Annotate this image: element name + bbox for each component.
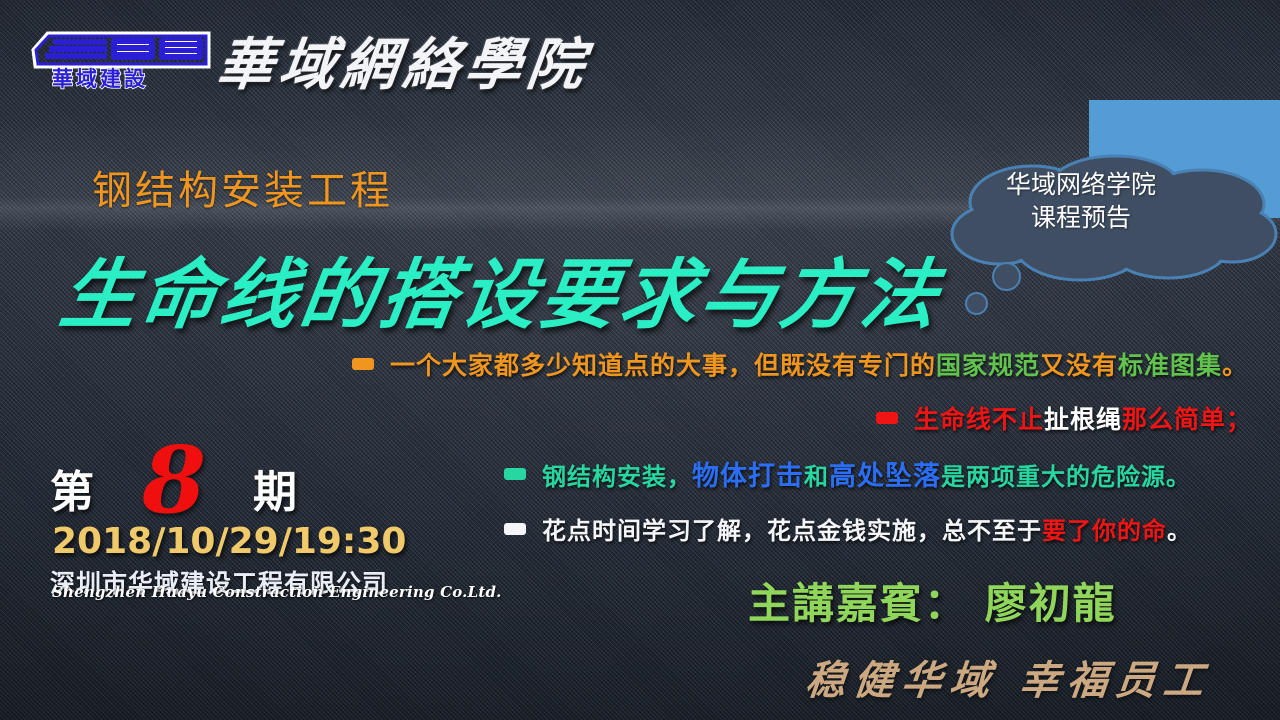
- course-announcement-poster: 華域建設 華域網絡學院: [0, 0, 1280, 720]
- bullet-marker-icon: [504, 523, 526, 535]
- bullet-text-4: 花点时间学习了解，花点金钱实施，总不至于要了你的命。: [542, 511, 1192, 546]
- bullet-item-4: 花点时间学习了解，花点金钱实施，总不至于要了你的命。: [504, 511, 1252, 546]
- issue-number-block: 第 8 期: [50, 452, 380, 524]
- bullet-marker-icon: [504, 468, 526, 480]
- cloud-bubble-large: [992, 262, 1021, 291]
- bullet-text-3: 钢结构安装，物体打击和高处坠落是两项重大的危险源。: [542, 454, 1191, 493]
- bullet-item-2: 生命线不止扯根绳那么简单；: [768, 400, 1252, 436]
- course-subtitle: 钢结构安装工程: [92, 158, 393, 216]
- bullet-marker-icon: [876, 412, 898, 424]
- issue-prefix-label: 第: [50, 456, 94, 520]
- brand-calligraphy-title: 華域網絡學院: [213, 20, 595, 101]
- cloud-bubble-small: [965, 292, 988, 315]
- company-logo-icon: 華域建設: [26, 24, 214, 90]
- event-datetime: 2018/10/29/19:30: [52, 521, 406, 562]
- issue-number: 8: [142, 426, 206, 534]
- bullet-item-3: 钢结构安装，物体打击和高处坠落是两项重大的危险源。: [504, 454, 1252, 493]
- callout-line-1: 华域网络学院: [956, 168, 1206, 201]
- svg-text:華域建設: 華域建設: [52, 67, 148, 90]
- company-slogan: 稳健华域 幸福员工: [803, 648, 1215, 706]
- issue-suffix-label: 期: [253, 456, 297, 520]
- bullet-marker-icon: [352, 358, 374, 370]
- bullet-text-2: 生命线不止扯根绳那么简单；: [914, 400, 1252, 436]
- speaker-line: 主講嘉賓： 廖初龍: [748, 570, 1117, 631]
- course-main-title: 生命线的搭设要求与方法: [54, 233, 949, 343]
- callout-line-2: 课程预告: [956, 201, 1206, 234]
- bullet-item-1: 一个大家都多少知道点的大事，但既没有专门的国家规范又没有标准图集。: [352, 346, 1252, 382]
- callout-text: 华域网络学院 课程预告: [956, 168, 1206, 234]
- company-name-english: Shengzhen Huayu Constraction Engineering…: [52, 583, 502, 601]
- bullet-text-1: 一个大家都多少知道点的大事，但既没有专门的国家规范又没有标准图集。: [390, 346, 1248, 382]
- bullet-list: 一个大家都多少知道点的大事，但既没有专门的国家规范又没有标准图集。 生命线不止扯…: [352, 346, 1252, 546]
